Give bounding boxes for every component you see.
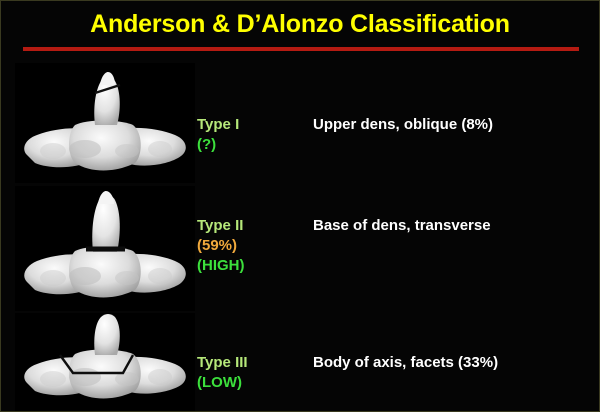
type-label-block-1: Type I (?) [197,115,307,155]
slide-canvas: Anderson & D’Alonzo Classification [0,0,600,412]
type-annotation: (?) [197,135,307,155]
title-bar: Anderson & D’Alonzo Classification [1,1,599,57]
type-label-block-2: Type II (59%) (HIGH) [197,216,307,276]
c2-axis-vertebra-type-3-photo [15,313,195,411]
type-label: Type II [197,216,307,236]
classification-row-type-2: Type II (59%) (HIGH) Base of dens, trans… [1,186,599,311]
type-annotation: (HIGH) [197,256,307,276]
type-annotation: (LOW) [197,373,307,393]
type-label: Type III [197,353,307,373]
type-label: Type I [197,115,307,135]
title-divider-rule [23,47,579,51]
type-description: Upper dens, oblique (8%) [313,115,593,135]
c2-axis-vertebra-type-2-photo [15,186,195,311]
classification-row-type-1: Type I (?) Upper dens, oblique (8%) [1,63,599,183]
type-description: Base of dens, transverse [313,216,593,236]
type-description: Body of axis, facets (33%) [313,353,593,373]
page-title: Anderson & D’Alonzo Classification [1,9,599,39]
c2-axis-vertebra-type-1-photo [15,63,195,183]
classification-row-type-3: Type III (LOW) Body of axis, facets (33%… [1,313,599,411]
type-percent: (59%) [197,236,307,256]
type-label-block-3: Type III (LOW) [197,353,307,393]
